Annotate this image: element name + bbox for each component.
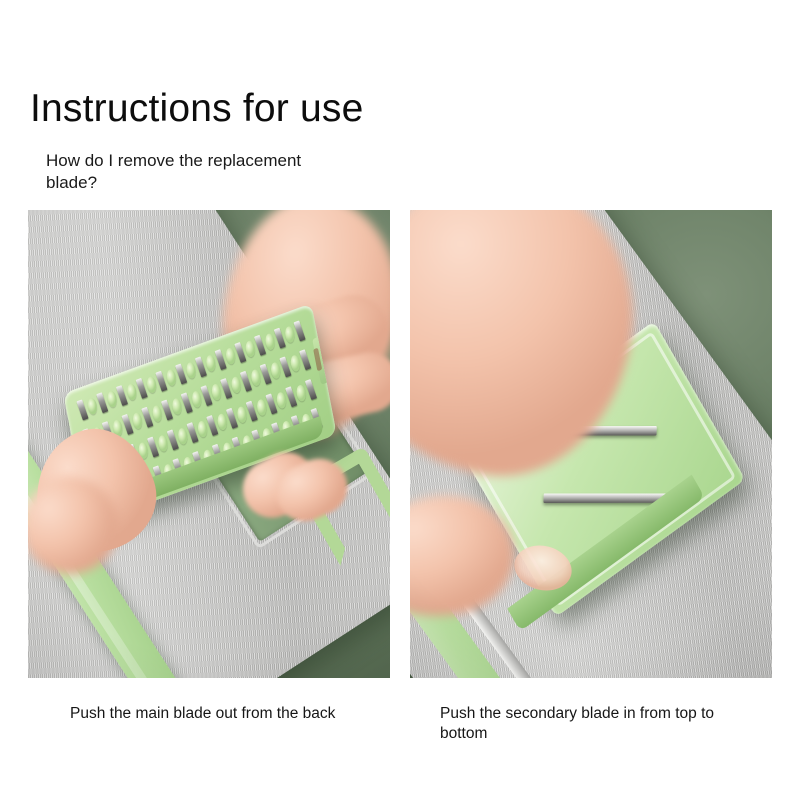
blade-nub xyxy=(87,397,99,416)
blade-slit-icon xyxy=(299,350,311,371)
blade-slit-icon xyxy=(246,400,258,421)
blade-slit-icon xyxy=(293,320,305,341)
page-title: Instructions for use xyxy=(30,88,363,130)
blade-nub xyxy=(166,368,178,387)
blade-nub xyxy=(106,390,118,409)
blade-nub xyxy=(250,369,262,388)
blade-slit-icon xyxy=(167,429,179,450)
step-panels xyxy=(0,210,800,680)
blade-nub xyxy=(216,412,228,431)
blade-nub xyxy=(132,412,144,431)
blade-nub xyxy=(157,434,169,453)
blade-slit-icon xyxy=(175,364,187,385)
blade-nub xyxy=(225,347,237,366)
blade-nub xyxy=(211,383,223,402)
blade-nub xyxy=(276,391,288,410)
blade-nub xyxy=(295,383,307,402)
blade-nub xyxy=(146,375,158,394)
blade-nub xyxy=(185,361,197,380)
blade-slit-icon xyxy=(206,415,218,436)
blade-slit-icon xyxy=(234,342,246,363)
blade-slit-icon xyxy=(116,385,128,406)
blade-slit-icon xyxy=(136,378,148,399)
instruction-sheet: Instructions for use How do I remove the… xyxy=(0,0,800,800)
blade-nub xyxy=(236,405,248,424)
blade-nub xyxy=(126,382,138,401)
blade-nub xyxy=(264,332,276,351)
blade-nub xyxy=(256,398,268,417)
blade-nub xyxy=(191,390,203,409)
scene-main-blade-removal xyxy=(28,210,390,678)
blade-nub xyxy=(230,376,242,395)
blade-slit-icon xyxy=(76,399,88,420)
blade-nub xyxy=(177,426,189,445)
blade-slit-icon xyxy=(96,392,108,413)
blade-slit-icon xyxy=(147,436,159,457)
scene-secondary-blade-insertion xyxy=(410,210,772,678)
blade-slit-icon xyxy=(195,356,207,377)
step-2-photo xyxy=(410,210,772,678)
step-2-caption: Push the secondary blade in from top to … xyxy=(440,704,750,746)
blade-slit-icon xyxy=(226,407,238,428)
blade-nub xyxy=(244,339,256,358)
blade-slit-icon xyxy=(155,371,167,392)
page-subtitle-question: How do I remove the replacement blade? xyxy=(46,150,356,195)
blade-nub xyxy=(205,354,217,373)
blade-nub xyxy=(171,397,183,416)
blade-nub xyxy=(284,325,296,344)
blade-nub xyxy=(290,354,302,373)
step-1-photo xyxy=(28,210,390,678)
blade-nub xyxy=(151,404,163,423)
blade-nub xyxy=(197,419,209,438)
blade-slit-icon xyxy=(265,393,277,414)
blade-slit-icon xyxy=(186,422,198,443)
blade-slit-icon xyxy=(215,349,227,370)
blade-slit-icon xyxy=(254,335,266,356)
step-1-caption: Push the main blade out from the back xyxy=(70,704,370,725)
blade-slit-icon xyxy=(305,379,317,400)
blade-slit-icon xyxy=(285,386,297,407)
blade-nub xyxy=(270,361,282,380)
blade-slit-icon xyxy=(274,328,286,349)
